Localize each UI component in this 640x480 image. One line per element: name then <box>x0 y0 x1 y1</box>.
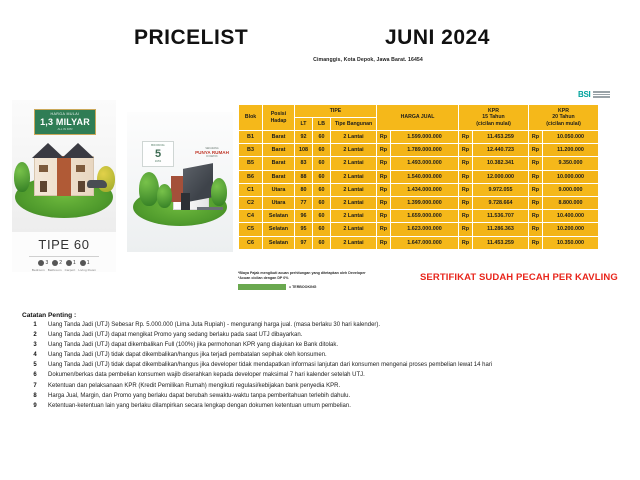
booking-color-swatch <box>238 284 286 290</box>
kpr20-currency-cell: Rp <box>529 170 543 183</box>
spec-name: Bathroom <box>48 268 62 272</box>
kpr15-currency-cell: Rp <box>459 210 473 223</box>
bangunan-cell: 2 Lantai <box>331 183 377 196</box>
harga-value-cell: 1.647.000.000 <box>391 236 459 249</box>
tree-icon <box>14 162 30 192</box>
note-text: Uang Tanda Jadi (UTJ) dapat dikembalikan… <box>48 342 338 350</box>
spec-name: Bedroom <box>32 268 45 272</box>
kpr20-value-cell: 10.400.000 <box>543 210 599 223</box>
kpr15-value-cell: 12.000.000 <box>473 170 529 183</box>
important-notes-title: Catatan Penting : <box>22 312 622 319</box>
note-number: 7 <box>22 383 48 389</box>
hadap-cell: Utara <box>263 196 295 209</box>
hadap-cell: Barat <box>263 170 295 183</box>
blok-cell: C4 <box>239 210 263 223</box>
lb-cell: 60 <box>313 144 331 157</box>
kpr20-value-cell: 9.000.000 <box>543 183 599 196</box>
page-title: PRICELIST <box>134 26 248 50</box>
bangunan-cell: 2 Lantai <box>331 170 377 183</box>
bsi-bank-logo: BSI <box>578 90 610 99</box>
note-number: 3 <box>22 342 48 348</box>
note-row: 2Uang Tanda Jadi (UTJ) dapat mengikat Pr… <box>22 332 622 340</box>
lt-cell: 97 <box>295 236 313 249</box>
page-header: PRICELIST JUNI 2024 Cimanggis, Kota Depo… <box>0 26 640 76</box>
lt-cell: 96 <box>295 210 313 223</box>
lt-cell: 92 <box>295 131 313 144</box>
harga-currency-cell: Rp <box>377 236 391 249</box>
lb-cell: 60 <box>313 157 331 170</box>
spec-count: 3 <box>45 260 48 266</box>
kpr15-currency-cell: Rp <box>459 144 473 157</box>
note-row: 1Uang Tanda Jadi (UTJ) Sebesar Rp. 5.000… <box>22 322 622 330</box>
badge-unit: JUTA <box>155 161 161 164</box>
note-row: 4Uang Tanda Jadi (UTJ) tidak dapat dikem… <box>22 352 622 360</box>
hadap-cell: Barat <box>263 157 295 170</box>
note-text: Uang Tanda Jadi (UTJ) tidak dapat dikemb… <box>48 362 492 370</box>
note-row: 9Ketentuan-ketentuan lain yang berlaku d… <box>22 403 622 411</box>
th-harga-jual: HARGA JUAL <box>377 105 459 131</box>
bath-icon <box>52 260 58 266</box>
spec-list: 3 2 1 1 <box>12 260 116 266</box>
bangunan-cell: 2 Lantai <box>331 131 377 144</box>
table-row: C2Utara77602 LantaiRp1.399.000.000Rp9.72… <box>239 196 599 209</box>
window-icon <box>39 165 48 172</box>
note-number: 2 <box>22 332 48 338</box>
kpr15-currency-cell: Rp <box>459 170 473 183</box>
table-row: C4Selatan96602 LantaiRp1.659.000.000Rp11… <box>239 210 599 223</box>
lb-cell: 60 <box>313 170 331 183</box>
note-text: Ketentuan dan pelaksanaan KPR (Kredit Pe… <box>48 383 340 391</box>
th-posisi-hadap: Posisi Hadap <box>263 105 295 131</box>
harga-value-cell: 1.434.000.000 <box>391 183 459 196</box>
harga-value-cell: 1.540.000.000 <box>391 170 459 183</box>
kpr20-currency-cell: Rp <box>529 131 543 144</box>
lt-cell: 80 <box>295 183 313 196</box>
th-lb: LB <box>313 118 331 131</box>
price-banner: HARGA MULAI 1,3 MILYAR ALL IN KPR <box>34 109 96 135</box>
table-row: C6Selatan97602 LantaiRp1.647.000.000Rp11… <box>239 236 599 249</box>
kpr15-currency-cell: Rp <box>459 196 473 209</box>
table-row: B3Barat108602 LantaiRp1.789.000.000Rp12.… <box>239 144 599 157</box>
kpr15-currency-cell: Rp <box>459 131 473 144</box>
lt-cell: 108 <box>295 144 313 157</box>
blok-cell: C6 <box>239 236 263 249</box>
table-body: B1Barat92602 LantaiRp1.599.000.000Rp11.4… <box>239 131 599 250</box>
product-card-promo: BOOKING 5 JUTA SEKARANG PUNYA RUMAH DI D… <box>127 112 233 252</box>
promo-bottom-label: DI DEPOK <box>206 156 217 159</box>
spec-name: Living Room <box>78 268 96 272</box>
harga-currency-cell: Rp <box>377 157 391 170</box>
spec-bedroom: 3 <box>38 260 48 266</box>
th-kpr15-line3: (cicilan mulai) <box>459 121 528 128</box>
type-label: TIPE 60 <box>12 237 116 252</box>
table-row: C5Selatan95602 LantaiRp1.623.000.000Rp11… <box>239 223 599 236</box>
certificate-banner: SERTIFIKAT SUDAH PECAH PER KAVLING <box>420 272 618 283</box>
kpr20-value-cell: 10.350.000 <box>543 236 599 249</box>
harga-currency-cell: Rp <box>377 183 391 196</box>
harga-currency-cell: Rp <box>377 196 391 209</box>
bed-icon <box>38 260 44 266</box>
roof-right <box>62 143 94 158</box>
lb-cell: 60 <box>313 236 331 249</box>
kpr20-value-cell: 10.000.000 <box>543 170 599 183</box>
blok-cell: B5 <box>239 157 263 170</box>
note-text: Ketentuan-ketentuan lain yang berlaku di… <box>48 403 351 411</box>
kpr20-currency-cell: Rp <box>529 196 543 209</box>
th-blok: Blok <box>239 105 263 131</box>
booking-badge: BOOKING 5 JUTA <box>142 141 174 167</box>
kpr15-value-cell: 9.728.664 <box>473 196 529 209</box>
note-row: 5Uang Tanda Jadi (UTJ) tidak dapat dikem… <box>22 362 622 370</box>
banner-price: 1,3 MILYAR <box>40 118 90 127</box>
kpr20-currency-cell: Rp <box>529 183 543 196</box>
th-lt: LT <box>295 118 313 131</box>
harga-value-cell: 1.659.000.000 <box>391 210 459 223</box>
bangunan-cell: 2 Lantai <box>331 223 377 236</box>
door-icon <box>181 193 190 210</box>
tree-icon <box>139 172 159 206</box>
harga-value-cell: 1.623.000.000 <box>391 223 459 236</box>
lb-cell: 60 <box>313 210 331 223</box>
hadap-cell: Selatan <box>263 236 295 249</box>
kpr20-currency-cell: Rp <box>529 236 543 249</box>
note-number: 4 <box>22 352 48 358</box>
harga-currency-cell: Rp <box>377 144 391 157</box>
kpr15-currency-cell: Rp <box>459 183 473 196</box>
lt-cell: 95 <box>295 223 313 236</box>
hadap-cell: Barat <box>263 144 295 157</box>
tree-icon <box>97 166 115 192</box>
harga-value-cell: 1.599.000.000 <box>391 131 459 144</box>
blok-cell: B6 <box>239 170 263 183</box>
harga-currency-cell: Rp <box>377 210 391 223</box>
kpr20-value-cell: 10.200.000 <box>543 223 599 236</box>
kpr20-currency-cell: Rp <box>529 223 543 236</box>
table-row: B6Barat88602 LantaiRp1.540.000.000Rp12.0… <box>239 170 599 183</box>
lb-cell: 60 <box>313 131 331 144</box>
kpr15-currency-cell: Rp <box>459 223 473 236</box>
hadap-cell: Selatan <box>263 210 295 223</box>
harga-value-cell: 1.399.000.000 <box>391 196 459 209</box>
spec-bathroom: 2 <box>52 260 62 266</box>
project-address: Cimanggis, Kota Depok, Jawa Barat. 16454 <box>238 57 498 63</box>
bangunan-cell: 2 Lantai <box>331 196 377 209</box>
kpr15-value-cell: 11.453.259 <box>473 131 529 144</box>
note-row: 3Uang Tanda Jadi (UTJ) dapat dikembalika… <box>22 342 622 350</box>
spec-living-room: 1 <box>80 260 90 266</box>
kpr15-currency-cell: Rp <box>459 236 473 249</box>
lb-cell: 60 <box>313 223 331 236</box>
window-icon <box>76 165 85 172</box>
harga-currency-cell: Rp <box>377 223 391 236</box>
house-render-tipe60: HARGA MULAI 1,3 MILYAR ALL IN KPR <box>12 100 116 232</box>
hadap-cell: Selatan <box>263 223 295 236</box>
house-render-modern: BOOKING 5 JUTA SEKARANG PUNYA RUMAH DI D… <box>127 112 233 252</box>
lt-cell: 83 <box>295 157 313 170</box>
note-number: 6 <box>22 372 48 378</box>
kpr20-value-cell: 8.800.000 <box>543 196 599 209</box>
blok-cell: C2 <box>239 196 263 209</box>
spec-count: 1 <box>73 260 76 266</box>
harga-currency-cell: Rp <box>377 170 391 183</box>
spec-name-list: Bedroom Bathroom Carport Living Room <box>12 268 116 272</box>
spec-carport: 1 <box>66 260 76 266</box>
spec-count: 1 <box>87 260 90 266</box>
spec-name: Carport <box>65 268 76 272</box>
banner-top-label: HARGA MULAI <box>51 113 80 117</box>
hadap-cell: Barat <box>263 131 295 144</box>
kpr15-value-cell: 11.453.259 <box>473 236 529 249</box>
kpr15-value-cell: 11.286.363 <box>473 223 529 236</box>
important-notes-list: 1Uang Tanda Jadi (UTJ) Sebesar Rp. 5.000… <box>22 322 622 410</box>
blok-cell: C5 <box>239 223 263 236</box>
kpr20-value-cell: 9.350.000 <box>543 157 599 170</box>
table-row: B5Barat83602 LantaiRp1.493.000.000Rp10.3… <box>239 157 599 170</box>
kpr20-value-cell: 10.050.000 <box>543 131 599 144</box>
lt-cell: 77 <box>295 196 313 209</box>
lb-cell: 60 <box>313 183 331 196</box>
carport-icon <box>66 260 72 266</box>
note-number: 8 <box>22 393 48 399</box>
footnote-dp: *Acuan cicilan dengan DP 0% <box>238 276 438 281</box>
lt-cell: 88 <box>295 170 313 183</box>
bangunan-cell: 2 Lantai <box>331 144 377 157</box>
bangunan-cell: 2 Lantai <box>331 210 377 223</box>
table-row: C1Utara80602 LantaiRp1.434.000.000Rp9.97… <box>239 183 599 196</box>
booking-legend: = TERBOOKING <box>238 284 438 290</box>
house-center-column <box>57 156 71 196</box>
note-text: Uang Tanda Jadi (UTJ) Sebesar Rp. 5.000.… <box>48 322 380 330</box>
kpr15-value-cell: 11.536.707 <box>473 210 529 223</box>
hadap-cell: Utara <box>263 183 295 196</box>
kpr15-value-cell: 9.972.055 <box>473 183 529 196</box>
note-text: Harga Jual, Margin, dan Promo yang berla… <box>48 393 350 401</box>
bangunan-cell: 2 Lantai <box>331 157 377 170</box>
blok-cell: C1 <box>239 183 263 196</box>
kpr15-value-cell: 10.382.341 <box>473 157 529 170</box>
note-text: Uang Tanda Jadi (UTJ) dapat mengikat Pro… <box>48 332 302 340</box>
blok-cell: B3 <box>239 144 263 157</box>
th-tipe-bangunan: Tipe Bangunan <box>331 118 377 131</box>
note-number: 1 <box>22 322 48 328</box>
living-room-icon <box>80 260 86 266</box>
divider <box>29 256 99 257</box>
badge-number: 5 <box>155 149 161 160</box>
note-row: 7Ketentuan dan pelaksanaan KPR (Kredit P… <box>22 383 622 391</box>
car-icon <box>87 180 107 188</box>
note-text: Dokumen/berkas data pembelian konsumen w… <box>48 372 365 380</box>
th-tipe: TIPE <box>295 105 377 118</box>
roof-left <box>32 143 64 158</box>
bsi-tagline-lines <box>593 91 610 97</box>
harga-currency-cell: Rp <box>377 131 391 144</box>
note-text: Uang Tanda Jadi (UTJ) tidak dapat dikemb… <box>48 352 327 360</box>
product-card-tipe60: HARGA MULAI 1,3 MILYAR ALL IN KPR TIPE 6… <box>12 100 116 272</box>
tree-icon <box>157 184 172 208</box>
blok-cell: B1 <box>239 131 263 144</box>
harga-value-cell: 1.789.000.000 <box>391 144 459 157</box>
pricelist-table: Blok Posisi Hadap TIPE HARGA JUAL KPR 15… <box>238 104 599 250</box>
booking-legend-label: = TERBOOKING <box>289 285 316 289</box>
tree-icon <box>211 178 227 206</box>
kpr20-currency-cell: Rp <box>529 144 543 157</box>
bangunan-cell: 2 Lantai <box>331 236 377 249</box>
th-kpr20-line3: (cicilan mulai) <box>529 121 598 128</box>
harga-value-cell: 1.493.000.000 <box>391 157 459 170</box>
kpr20-currency-cell: Rp <box>529 157 543 170</box>
promo-badge: SEKARANG PUNYA RUMAH DI DEPOK <box>195 142 229 164</box>
note-row: 8Harga Jual, Margin, dan Promo yang berl… <box>22 393 622 401</box>
pergola-icon <box>197 207 223 210</box>
kpr15-currency-cell: Rp <box>459 157 473 170</box>
table-row: B1Barat92602 LantaiRp1.599.000.000Rp11.4… <box>239 131 599 144</box>
banner-bottom-label: ALL IN KPR <box>58 128 73 131</box>
th-kpr-15: KPR 15 Tahun (cicilan mulai) <box>459 105 529 131</box>
period-title: JUNI 2024 <box>385 26 490 50</box>
note-number: 9 <box>22 403 48 409</box>
kpr15-value-cell: 12.440.723 <box>473 144 529 157</box>
kpr20-value-cell: 11.200.000 <box>543 144 599 157</box>
door-icon <box>40 181 47 192</box>
th-kpr-20: KPR 20 Tahun (cicilan mulai) <box>529 105 599 131</box>
table-header-row-1: Blok Posisi Hadap TIPE HARGA JUAL KPR 15… <box>239 105 599 118</box>
spec-count: 2 <box>59 260 62 266</box>
table-footnotes: *Biaya Pajak mengikuti acuan perhitungan… <box>238 271 438 290</box>
note-number: 5 <box>22 362 48 368</box>
door-icon <box>78 181 85 192</box>
note-row: 6Dokumen/berkas data pembelian konsumen … <box>22 372 622 380</box>
lb-cell: 60 <box>313 196 331 209</box>
important-notes-section: Catatan Penting : 1Uang Tanda Jadi (UTJ)… <box>22 312 622 413</box>
kpr20-currency-cell: Rp <box>529 210 543 223</box>
bsi-wordmark: BSI <box>578 90 590 99</box>
